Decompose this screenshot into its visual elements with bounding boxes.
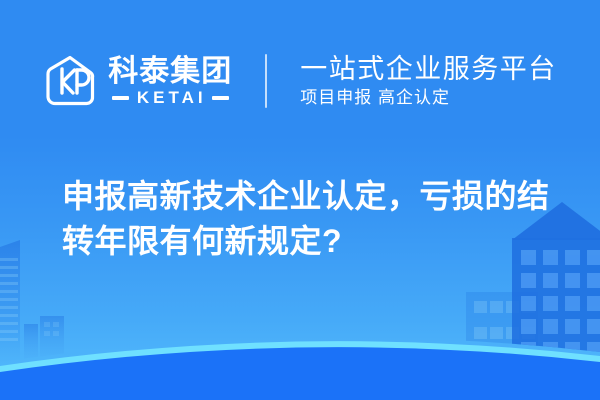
- banner-header: 科泰集团 KETAI 一站式企业服务平台 项目申报 高企认定: [0, 40, 600, 122]
- promo-banner: 科泰集团 KETAI 一站式企业服务平台 项目申报 高企认定 申报高新技术企业认…: [0, 0, 600, 400]
- tagline-main: 一站式企业服务平台: [300, 54, 557, 85]
- left-skyscraper: [0, 240, 20, 366]
- tagline-block: 一站式企业服务平台 项目申报 高企认定: [300, 54, 557, 108]
- left-low-buildings: [24, 316, 64, 368]
- header-divider: [265, 54, 267, 108]
- brand-dash-left-icon: [112, 96, 129, 100]
- banner-headline: 申报高新技术企业认定，亏损的结转年限有何新规定?: [62, 174, 562, 264]
- ketai-diamond-kp-logo-icon: [43, 54, 97, 108]
- brand-name-en-row: KETAI: [108, 89, 232, 107]
- brand-name-en: KETAI: [134, 89, 207, 107]
- brand-words: 科泰集团 KETAI: [108, 56, 232, 107]
- tagline-sub: 项目申报 高企认定: [300, 87, 557, 108]
- brand-dash-right-icon: [212, 96, 229, 100]
- brand-lockup: 科泰集团 KETAI 一站式企业服务平台 项目申报 高企认定: [43, 54, 557, 108]
- brand-name-cn: 科泰集团: [108, 56, 232, 88]
- mid-low-rise-building: [466, 292, 538, 360]
